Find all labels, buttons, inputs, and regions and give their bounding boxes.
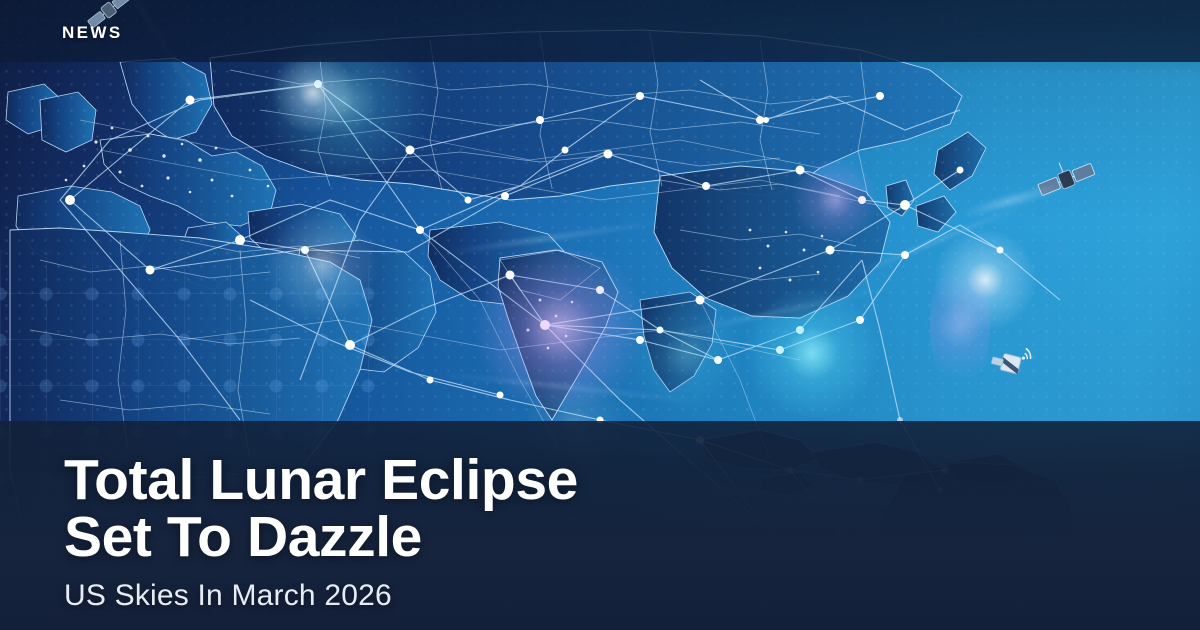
kicker-label: NEWS	[62, 24, 123, 41]
news-banner-card: NEWS Total Lunar Eclipse Set To Dazzle U…	[0, 0, 1200, 630]
page-title: Total Lunar Eclipse Set To Dazzle	[64, 452, 1064, 566]
headline-line-2: Set To Dazzle	[64, 509, 1064, 566]
headline-line-1: Total Lunar Eclipse	[64, 452, 1064, 509]
satellite-icon	[1030, 150, 1100, 210]
kicker-row: NEWS	[0, 0, 1200, 62]
satellite-dish-icon	[986, 338, 1042, 388]
page-subtitle: US Skies In March 2026	[64, 578, 392, 614]
